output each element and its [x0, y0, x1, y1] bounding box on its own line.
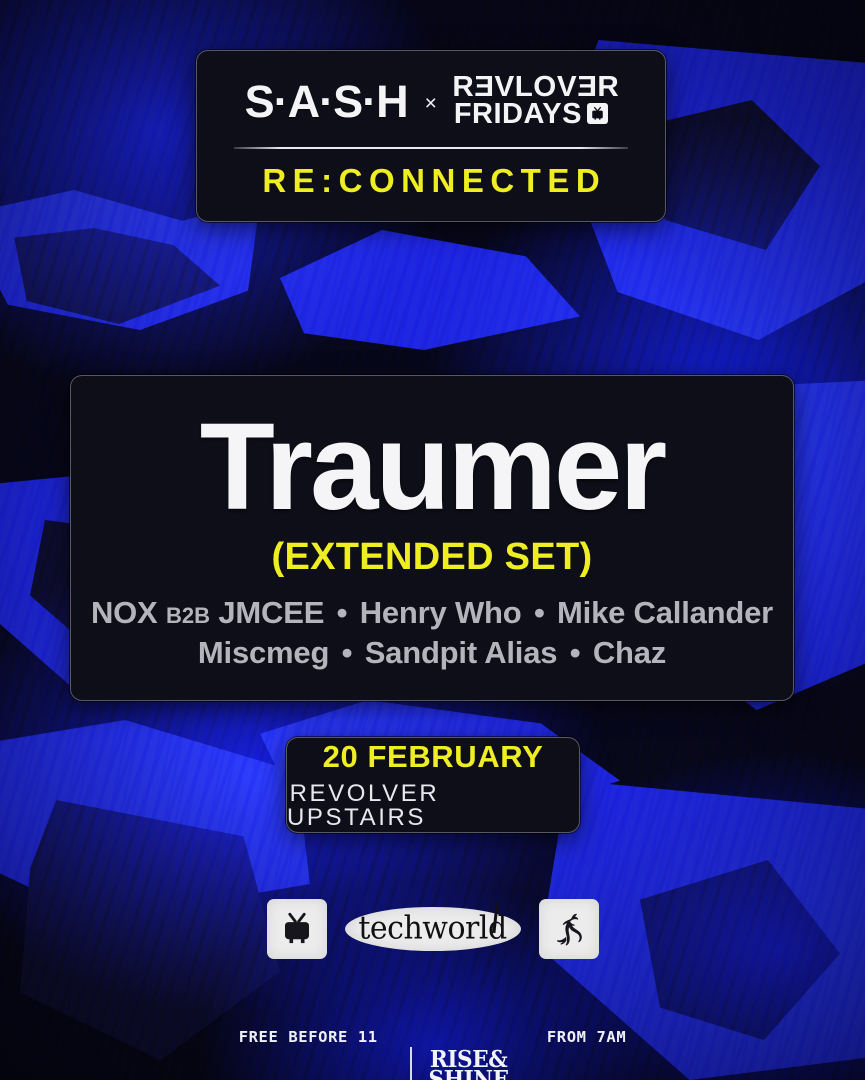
separator-dot: •	[333, 595, 352, 630]
headliner-note: (EXTENDED SET)	[272, 538, 593, 576]
sponsor-logo-row: techworld	[0, 899, 865, 959]
footer-right-info: FROM 7AM SUNSHINE	[525, 982, 626, 1080]
tv-logo-tile	[267, 899, 327, 959]
event-date: 20 FEBRUARY	[323, 741, 544, 772]
revolver-fridays-logo: REVLOVER FRIDAYS	[454, 74, 618, 127]
separator-dot: •	[338, 635, 357, 670]
footer-divider	[410, 1047, 412, 1080]
support-artist-miscmeg: Miscmeg	[198, 635, 329, 670]
support-artist-chaz: Chaz	[593, 635, 666, 670]
support-artists-line-1: NOX B2B JMCEE • Henry Who • Mike Calland…	[91, 593, 773, 633]
brand-row: S·A·S·H × REVLOVER FRIDAYS	[245, 73, 618, 129]
sash-logo: S·A·S·H	[245, 79, 408, 124]
event-title: RE:CONNECTED	[256, 164, 606, 197]
event-poster: S·A·S·H × REVLOVER FRIDAYS	[0, 0, 865, 1080]
rise-and-shine-logo: RISE& SHINE	[415, 1050, 521, 1080]
revolver-logo-line-2: FRIDAYS	[454, 101, 618, 128]
horse-logo-tile	[539, 899, 599, 959]
techworld-logo: techworld	[345, 907, 521, 951]
tv-icon	[587, 103, 608, 124]
rise-shine-line-2: SHINE	[428, 1070, 508, 1080]
date-venue-card: 20 FEBRUARY REVOLVER UPSTAIRS	[286, 737, 580, 833]
rearing-horse-icon	[550, 910, 588, 948]
header-divider	[234, 147, 628, 149]
b2b-label: B2B	[166, 603, 210, 628]
header-card: S·A·S·H × REVLOVER FRIDAYS	[196, 50, 666, 222]
support-artist-mike-callander: Mike Callander	[557, 595, 773, 630]
techworld-wordmark: techworld	[358, 913, 506, 945]
support-artist-nox: NOX	[91, 595, 158, 630]
footer-info-row: FREE BEFORE 11 19:00 - 07:00 RISE& SHINE…	[0, 982, 865, 1080]
separator-dot: •	[566, 635, 585, 670]
support-artist-jmcee: JMCEE	[218, 595, 324, 630]
support-artist-henry-who: Henry Who	[360, 595, 522, 630]
footer-free-before: FREE BEFORE 11	[239, 1026, 388, 1048]
footer-from-time: FROM 7AM	[547, 1026, 626, 1048]
tv-icon	[279, 911, 315, 947]
cross-icon: ×	[425, 93, 437, 114]
support-artists-line-2: Miscmeg • Sandpit Alias • Chaz	[198, 633, 666, 673]
footer-left-info: FREE BEFORE 11 19:00 - 07:00	[239, 982, 410, 1080]
lineup-card: Traumer (EXTENDED SET) NOX B2B JMCEE • H…	[70, 375, 794, 701]
revolver-logo-line-1: REVLOVER	[452, 74, 619, 101]
revolver-logo-fridays: FRIDAYS	[454, 101, 582, 128]
event-venue: REVOLVER UPSTAIRS	[287, 782, 579, 830]
headliner-name: Traumer	[200, 404, 664, 532]
support-artist-sandpit-alias: Sandpit Alias	[365, 635, 558, 670]
separator-dot: •	[530, 595, 549, 630]
